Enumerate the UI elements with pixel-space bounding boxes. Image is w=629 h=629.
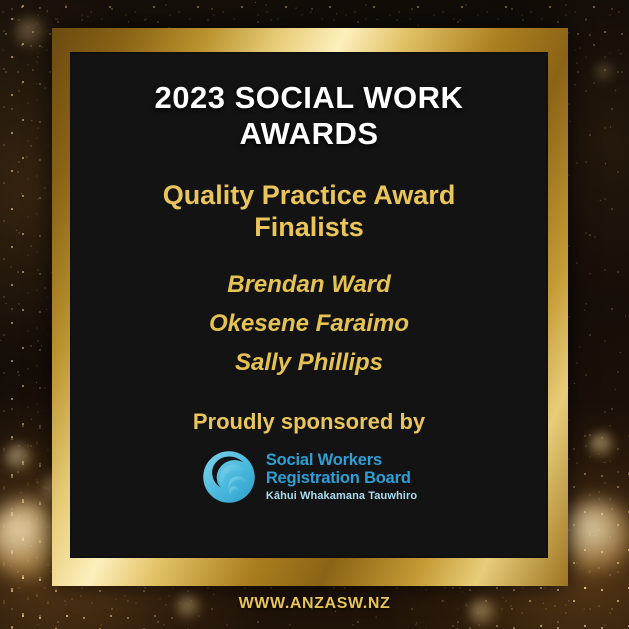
list-item: Okesene Faraimo	[70, 312, 548, 336]
list-item: Brendan Ward	[70, 273, 548, 297]
sponsor-logo-text: Social Workers Registration Board Kāhui …	[266, 452, 417, 502]
poster-content: 2023 SOCIAL WORK AWARDS Quality Practice…	[70, 52, 548, 558]
bokeh-light	[14, 16, 48, 50]
sponsor-label: Proudly sponsored by	[193, 409, 425, 435]
sponsor-logo: Social Workers Registration Board Kāhui …	[201, 449, 417, 505]
sponsor-name-line-2: Registration Board	[266, 470, 417, 487]
bokeh-light	[4, 443, 34, 473]
gold-frame-border: 2023 SOCIAL WORK AWARDS Quality Practice…	[52, 28, 568, 586]
wave-spiral-icon	[201, 449, 257, 505]
award-category-title: Quality Practice Award Finalists	[109, 179, 509, 244]
finalists-list: Brendan Ward Okesene Faraimo Sally Phill…	[70, 273, 548, 375]
poster-card: 2023 SOCIAL WORK AWARDS Quality Practice…	[70, 52, 548, 558]
bokeh-light	[589, 432, 615, 458]
sponsor-name-line-1: Social Workers	[266, 452, 417, 469]
awards-poster: 2023 SOCIAL WORK AWARDS Quality Practice…	[0, 0, 629, 629]
list-item: Sally Phillips	[70, 351, 548, 375]
sponsor-name-maori: Kāhui Whakamana Tauwhiro	[266, 491, 417, 502]
bokeh-light	[594, 62, 616, 84]
website-url[interactable]: WWW.ANZASW.NZ	[0, 595, 629, 613]
page-title: 2023 SOCIAL WORK AWARDS	[109, 80, 509, 152]
bokeh-light	[560, 500, 629, 572]
